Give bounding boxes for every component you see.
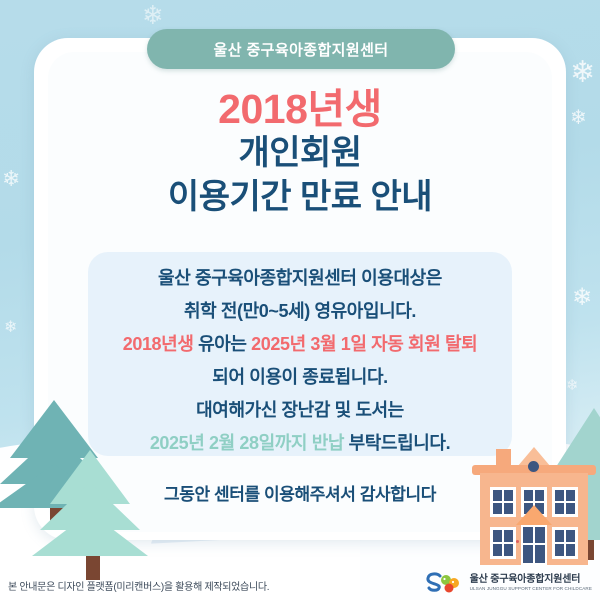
- body-line-3-mid: 유아는: [193, 334, 251, 354]
- footer-logo-korean: 울산 중구육아종합지원센터: [470, 574, 592, 585]
- body-line-3-withdrawal: 2025년 3월 1일 자동 회원 탈퇴: [251, 334, 477, 354]
- body-line-6-request: 부탁드립니다.: [344, 433, 450, 453]
- footer-logo: 울산 중구육아종합지원센터 ULSAN JUNGGU SUPPORT CENTE…: [424, 572, 592, 594]
- body-text: 울산 중구육아종합지원센터 이용대상은 취학 전(만0~5세) 영유아입니다. …: [88, 262, 512, 460]
- footer-credit-note: 본 안내문은 디자인 플랫폼(미리캔버스)을 활용해 제작되었습니다.: [8, 578, 269, 593]
- house-illustration: [470, 447, 600, 565]
- body-line-6-deadline: 2025년 2월 28일까지 반납: [150, 433, 344, 453]
- body-line-4: 되어 이용이 종료됩니다.: [88, 361, 512, 394]
- snowflake-icon: ❄: [566, 378, 579, 393]
- poster-canvas: ❄ ❄ ❄ ❄ ❄ ❄ ❄ 울산 중구육아종합지원센터 2018년생 개인회원 …: [0, 0, 600, 600]
- center-logo-icon: [424, 572, 464, 594]
- pine-tree-front-icon: [28, 450, 158, 580]
- body-line-5: 대여해가신 장난감 및 도서는: [88, 394, 512, 427]
- house-window: [490, 487, 516, 517]
- house-door-knob: [516, 540, 519, 543]
- footer-logo-text: 울산 중구육아종합지원센터 ULSAN JUNGGU SUPPORT CENTE…: [470, 574, 592, 592]
- title-line-1: 2018년생: [0, 86, 600, 132]
- house-porch-roof: [516, 505, 552, 525]
- title-line-2: 개인회원: [0, 132, 600, 175]
- title-line-3: 이용기간 만료 안내: [0, 175, 600, 219]
- footer-logo-english: ULSAN JUNGGU SUPPORT CENTER FOR CHILDCAR…: [470, 585, 592, 592]
- center-name-badge-label: 울산 중구육아종합지원센터: [214, 39, 389, 60]
- house-window: [552, 487, 578, 517]
- house-window: [552, 527, 578, 559]
- snowflake-icon: ❄: [572, 286, 592, 310]
- house-door: [521, 525, 547, 565]
- house-attic-window: [528, 461, 539, 472]
- body-line-3: 2018년생 유아는 2025년 3월 1일 자동 회원 탈퇴: [88, 328, 512, 361]
- body-line-3-year: 2018년생: [123, 334, 194, 354]
- snowflake-icon: ❄: [142, 2, 164, 28]
- center-name-badge: 울산 중구육아종합지원센터: [147, 29, 455, 69]
- snowflake-icon: ❄: [570, 58, 595, 88]
- house-window: [490, 527, 516, 559]
- poster-title: 2018년생 개인회원 이용기간 만료 안내: [0, 86, 600, 219]
- body-line-2: 취학 전(만0~5세) 영유아입니다.: [88, 295, 512, 328]
- body-line-1: 울산 중구육아종합지원센터 이용대상은: [88, 262, 512, 295]
- snowflake-icon: ❄: [4, 320, 17, 336]
